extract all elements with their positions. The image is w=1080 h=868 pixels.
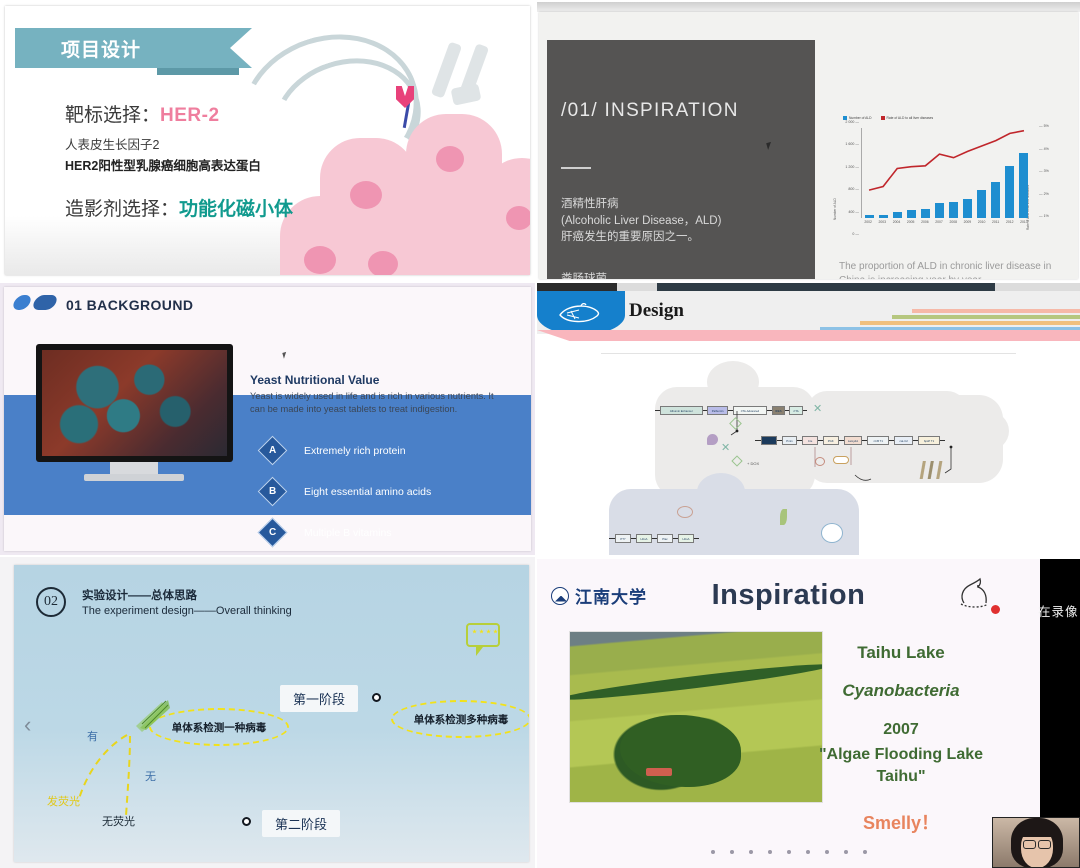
target-sub2: HER2阳性型乳腺癌细胞高表达蛋白 xyxy=(65,155,293,174)
horse-logo-icon xyxy=(954,577,994,611)
protein-glyph xyxy=(707,434,718,445)
glasses-icon xyxy=(1023,840,1036,849)
slide-design: Design Albumin EnhancerPalbuminrtTA-Adva… xyxy=(537,291,1080,555)
slide-dot[interactable] xyxy=(825,850,829,854)
slide-dot[interactable] xyxy=(711,850,715,854)
chart-x-tick: 2010 xyxy=(978,220,986,232)
chart-y2-tick: — 4% xyxy=(1039,147,1049,151)
benefit-label: Eight essential amino acids xyxy=(304,486,431,498)
chart-x-tick: 2013 xyxy=(1020,220,1028,232)
benefit-badge: A xyxy=(258,436,288,466)
chart-y-axis-label: Number of ALD xyxy=(833,198,837,220)
design-header-bar: Design xyxy=(537,291,1080,334)
benefit-badge: B xyxy=(258,477,288,507)
chart-legend-item: Rate of ALD to all liver diseases xyxy=(881,116,934,120)
slide-dot[interactable] xyxy=(806,850,810,854)
chart-y2-tick: — 1% xyxy=(1039,214,1049,218)
slide-background: 01 BACKGROUND Yeast Nutritional Value Ye… xyxy=(4,287,531,551)
slide-dot[interactable] xyxy=(863,850,867,854)
chart-x-tick: 2003 xyxy=(879,220,887,232)
vesicle-glyph xyxy=(821,523,843,543)
self-view-thumbnail[interactable] xyxy=(992,817,1080,868)
slide-dot[interactable] xyxy=(730,850,734,854)
stage1-node xyxy=(372,693,381,702)
stage2-node xyxy=(242,817,251,826)
chart-y-tick: 800 — xyxy=(848,187,859,191)
slide-inspiration-taihu: 江南大学 Inspiration Taihu Lake Cyanobacteri… xyxy=(537,559,1040,868)
shoreline-shape xyxy=(569,660,823,705)
chart-x-tick: 2009 xyxy=(964,220,972,232)
slide-project-design: 项目设计 靶标选择：HER-2 人表皮生长因子2 HER2阳性型乳腺癌细胞高表达… xyxy=(5,6,530,275)
legend-swatch xyxy=(881,116,885,120)
ribbon-fold-shape xyxy=(157,68,239,75)
circuit-part: LibsA xyxy=(636,534,652,543)
chart-y2-tick: — 5% xyxy=(1039,124,1049,128)
design-title: Design xyxy=(629,300,684,322)
chart-y-tick: 1 600 — xyxy=(845,142,859,146)
enzyme-glyph xyxy=(677,506,693,518)
cross-glyph: ✕ xyxy=(813,404,823,414)
fiber-glyph xyxy=(895,461,953,479)
header-mark-icon xyxy=(14,295,58,312)
stars-icon xyxy=(472,629,498,634)
slide-dot[interactable] xyxy=(749,850,753,854)
slide-dot[interactable] xyxy=(844,850,848,854)
slide-dot[interactable] xyxy=(787,850,791,854)
chart-x-axis-ticks: 2002200320042005200620072008200920102011… xyxy=(861,220,1031,232)
card-description: Yeast is widely used in life and is rich… xyxy=(250,390,503,416)
label-yes: 有 xyxy=(87,728,98,744)
card-title: Yeast Nutritional Value xyxy=(250,373,379,387)
island-shape xyxy=(620,715,741,786)
circuit-part: PT7 xyxy=(615,534,631,543)
target-sub1: 人表皮生长因子2 xyxy=(65,134,293,153)
benefit-label: Extremely rich protein xyxy=(304,445,406,457)
label-fluorescent: 发荧光 xyxy=(47,793,80,809)
faecalis-block: 粪肠球菌 (Enterococcus faecalis, E. faecalis… xyxy=(561,271,740,279)
participant-panel-experiment-design[interactable]: 02 实验设计——总体思路 The experiment design——Ove… xyxy=(0,557,535,868)
chart-x-tick: 2011 xyxy=(992,220,999,232)
benefit-badge: C xyxy=(258,518,288,548)
chart-x-tick: 2012 xyxy=(1006,220,1014,232)
label-no-fluorescent: 无荧光 xyxy=(102,813,135,829)
benefit-item: BEight essential amino acids xyxy=(262,471,531,512)
benefit-badge-letter: C xyxy=(269,527,276,538)
title-rule xyxy=(561,167,591,169)
window-chrome-left xyxy=(537,283,617,291)
slide-banner: 项目设计 xyxy=(15,28,230,68)
experiment-title-en: The experiment design——Overall thinking xyxy=(82,605,292,617)
monitor-screen xyxy=(36,344,233,462)
slide-number-badge: 02 xyxy=(36,587,66,617)
background-header: 01 BACKGROUND xyxy=(66,297,193,313)
fish-logo-icon xyxy=(557,301,603,325)
window-titlebar xyxy=(537,2,1080,12)
slide-body-text: 靶标选择：HER-2 人表皮生长因子2 HER2阳性型乳腺癌细胞高表达蛋白 造影… xyxy=(65,100,293,221)
chart-x-tick: 2006 xyxy=(921,220,929,232)
slide-banner-title: 项目设计 xyxy=(61,35,141,62)
chart-plot-area xyxy=(861,128,1031,218)
recording-label: 在录像 xyxy=(1038,601,1079,620)
chart-x-tick: 2008 xyxy=(949,220,957,232)
chart-x-tick: 2007 xyxy=(935,220,943,232)
chart-x-tick: 2004 xyxy=(893,220,901,232)
boat-shape xyxy=(646,768,672,776)
ald-block: 酒精性肝病 (Alcoholic Liver Disease，ALD) 肝癌发生… xyxy=(561,196,721,246)
monitor-illustration xyxy=(36,344,233,479)
benefit-badge-letter: A xyxy=(269,445,276,456)
chart-y2-tick: — 3% xyxy=(1039,169,1049,173)
oval-label-right: 单体系检测多种病毒 xyxy=(391,700,529,738)
participant-panel-inspiration-dark[interactable]: /01/ INSPIRATION 酒精性肝病 (Alcoholic Liver … xyxy=(537,0,1080,281)
benefit-label: Multiple B vitamins xyxy=(304,527,392,539)
participant-panel-design[interactable]: Design Albumin EnhancerPalbuminrtTA-Adva… xyxy=(537,283,1080,555)
participant-panel-project-design[interactable]: 项目设计 靶标选择：HER-2 人表皮生长因子2 HER2阳性型乳腺癌细胞高表达… xyxy=(0,0,535,281)
taihu-lake-photo xyxy=(569,631,823,803)
reporter-glyph xyxy=(833,456,849,464)
stage1-label: 第一阶段 xyxy=(280,685,358,712)
agent-line: 造影剂选择：功能化磁小体 xyxy=(65,194,293,221)
stage2-label: 第二阶段 xyxy=(262,810,340,837)
leaf-glyph xyxy=(780,509,787,525)
ald-chart: Number of ALDRate of ALD to all liver di… xyxy=(827,112,1067,242)
taihu-line-4: "Algae Flooding Lake Taihu" xyxy=(796,744,1006,788)
slide-progress-dots[interactable] xyxy=(537,850,1040,854)
taihu-line-1: Taihu Lake xyxy=(796,643,1006,663)
benefit-item: CMultiple B vitamins xyxy=(262,512,531,551)
slide-experiment-design: 02 实验设计——总体思路 The experiment design——Ove… xyxy=(14,565,529,862)
chart-y-tick: 400 — xyxy=(848,210,859,214)
header-divider xyxy=(601,353,1016,354)
experiment-title-cn: 实验设计——总体思路 xyxy=(82,587,197,603)
benefit-list: AExtremely rich proteinBEight essential … xyxy=(262,430,531,551)
ribbon-tail-shape xyxy=(230,28,252,68)
participant-panel-inspiration-slide[interactable]: 江南大学 Inspiration Taihu Lake Cyanobacteri… xyxy=(537,557,1080,868)
dox-label: + DOX xyxy=(747,461,759,466)
participant-panel-background[interactable]: 01 BACKGROUND Yeast Nutritional Value Ye… xyxy=(0,283,535,555)
section-title: /01/ INSPIRATION xyxy=(561,100,739,122)
cross-glyph: ✕ xyxy=(721,441,730,454)
chart-y2-tick: — 2% xyxy=(1039,192,1049,196)
taihu-line-3: 2007 xyxy=(796,721,1006,739)
taihu-line-2: Cyanobacteria xyxy=(796,681,1006,701)
target-line: 靶标选择：HER-2 xyxy=(65,100,293,127)
chart-x-tick: 2002 xyxy=(864,220,872,232)
header-pink-band xyxy=(537,330,1080,341)
monitor-base xyxy=(84,474,184,481)
enzyme-glyph xyxy=(815,457,825,466)
chart-y-tick: 1 200 — xyxy=(845,165,859,169)
slide-inspiration: /01/ INSPIRATION 酒精性肝病 (Alcoholic Liver … xyxy=(539,12,1078,279)
benefit-item: AExtremely rich protein xyxy=(262,430,531,471)
dark-text-block: /01/ INSPIRATION 酒精性肝病 (Alcoholic Liver … xyxy=(547,40,815,279)
chart-line-series xyxy=(862,128,1031,218)
chart-y2-axis-ticks: — 1%— 2%— 3%— 4%— 5% xyxy=(1039,124,1063,236)
recording-indicator-dot xyxy=(991,605,1000,614)
benefit-badge-letter: B xyxy=(269,486,276,497)
slide-dot[interactable] xyxy=(768,850,772,854)
glasses-icon xyxy=(1038,840,1051,849)
webcam-bangs xyxy=(1019,825,1055,837)
speech-bubble-icon xyxy=(466,623,500,647)
chart-y-tick: 0 — xyxy=(852,232,859,236)
label-no: 无 xyxy=(145,768,156,784)
chart-y-tick: 2 000 — xyxy=(845,120,859,124)
chart-x-tick: 2005 xyxy=(907,220,915,232)
taihu-line-5: Smelly！ xyxy=(796,809,1006,835)
yeast-microscopy-image xyxy=(42,350,227,456)
video-call-grid: 项目设计 靶标选择：HER-2 人表皮生长因子2 HER2阳性型乳腺癌细胞高表达… xyxy=(0,0,1080,868)
prev-slide-chevron-icon[interactable]: ‹ xyxy=(24,712,31,738)
green-arrow-icon xyxy=(132,698,172,734)
chart-caption: The proportion of ALD in chronic liver d… xyxy=(839,260,1064,279)
